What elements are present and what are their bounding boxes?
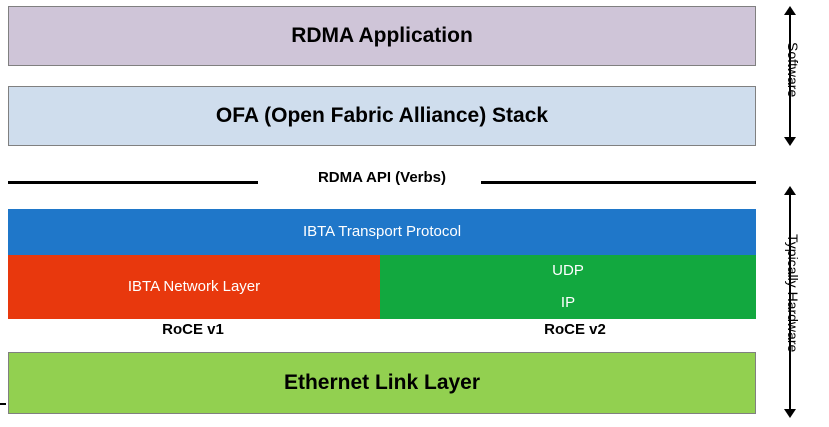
- annotation-roce-v2: RoCE v2: [490, 321, 660, 338]
- layer-ofa-stack: OFA (Open Fabric Alliance) Stack: [8, 86, 756, 146]
- rdma-api-verbs-label: RDMA API (Verbs): [8, 169, 756, 186]
- diagram-canvas: RDMA Application OFA (Open Fabric Allian…: [0, 0, 829, 427]
- layer-ibta-network-layer: IBTA Network Layer: [8, 255, 380, 319]
- arrow-head-down-icon: [784, 137, 796, 146]
- layer-ethernet-link: Ethernet Link Layer: [8, 352, 756, 414]
- label-software: Software: [785, 42, 801, 97]
- layer-udp: UDP: [380, 255, 756, 287]
- hardware-scope-arrow: Typically Hardware: [775, 186, 829, 418]
- arrow-head-down-icon: [784, 409, 796, 418]
- layer-ip: IP: [380, 287, 756, 319]
- layer-rdma-application: RDMA Application: [8, 6, 756, 66]
- label-typically-hardware: Typically Hardware: [785, 234, 801, 352]
- software-scope-arrow: Software: [775, 6, 829, 146]
- left-tick-mark: [0, 403, 6, 405]
- annotation-roce-v1: RoCE v1: [108, 321, 278, 338]
- rdma-api-verbs-divider: RDMA API (Verbs): [8, 166, 756, 196]
- layer-ibta-transport-protocol: IBTA Transport Protocol: [8, 209, 756, 255]
